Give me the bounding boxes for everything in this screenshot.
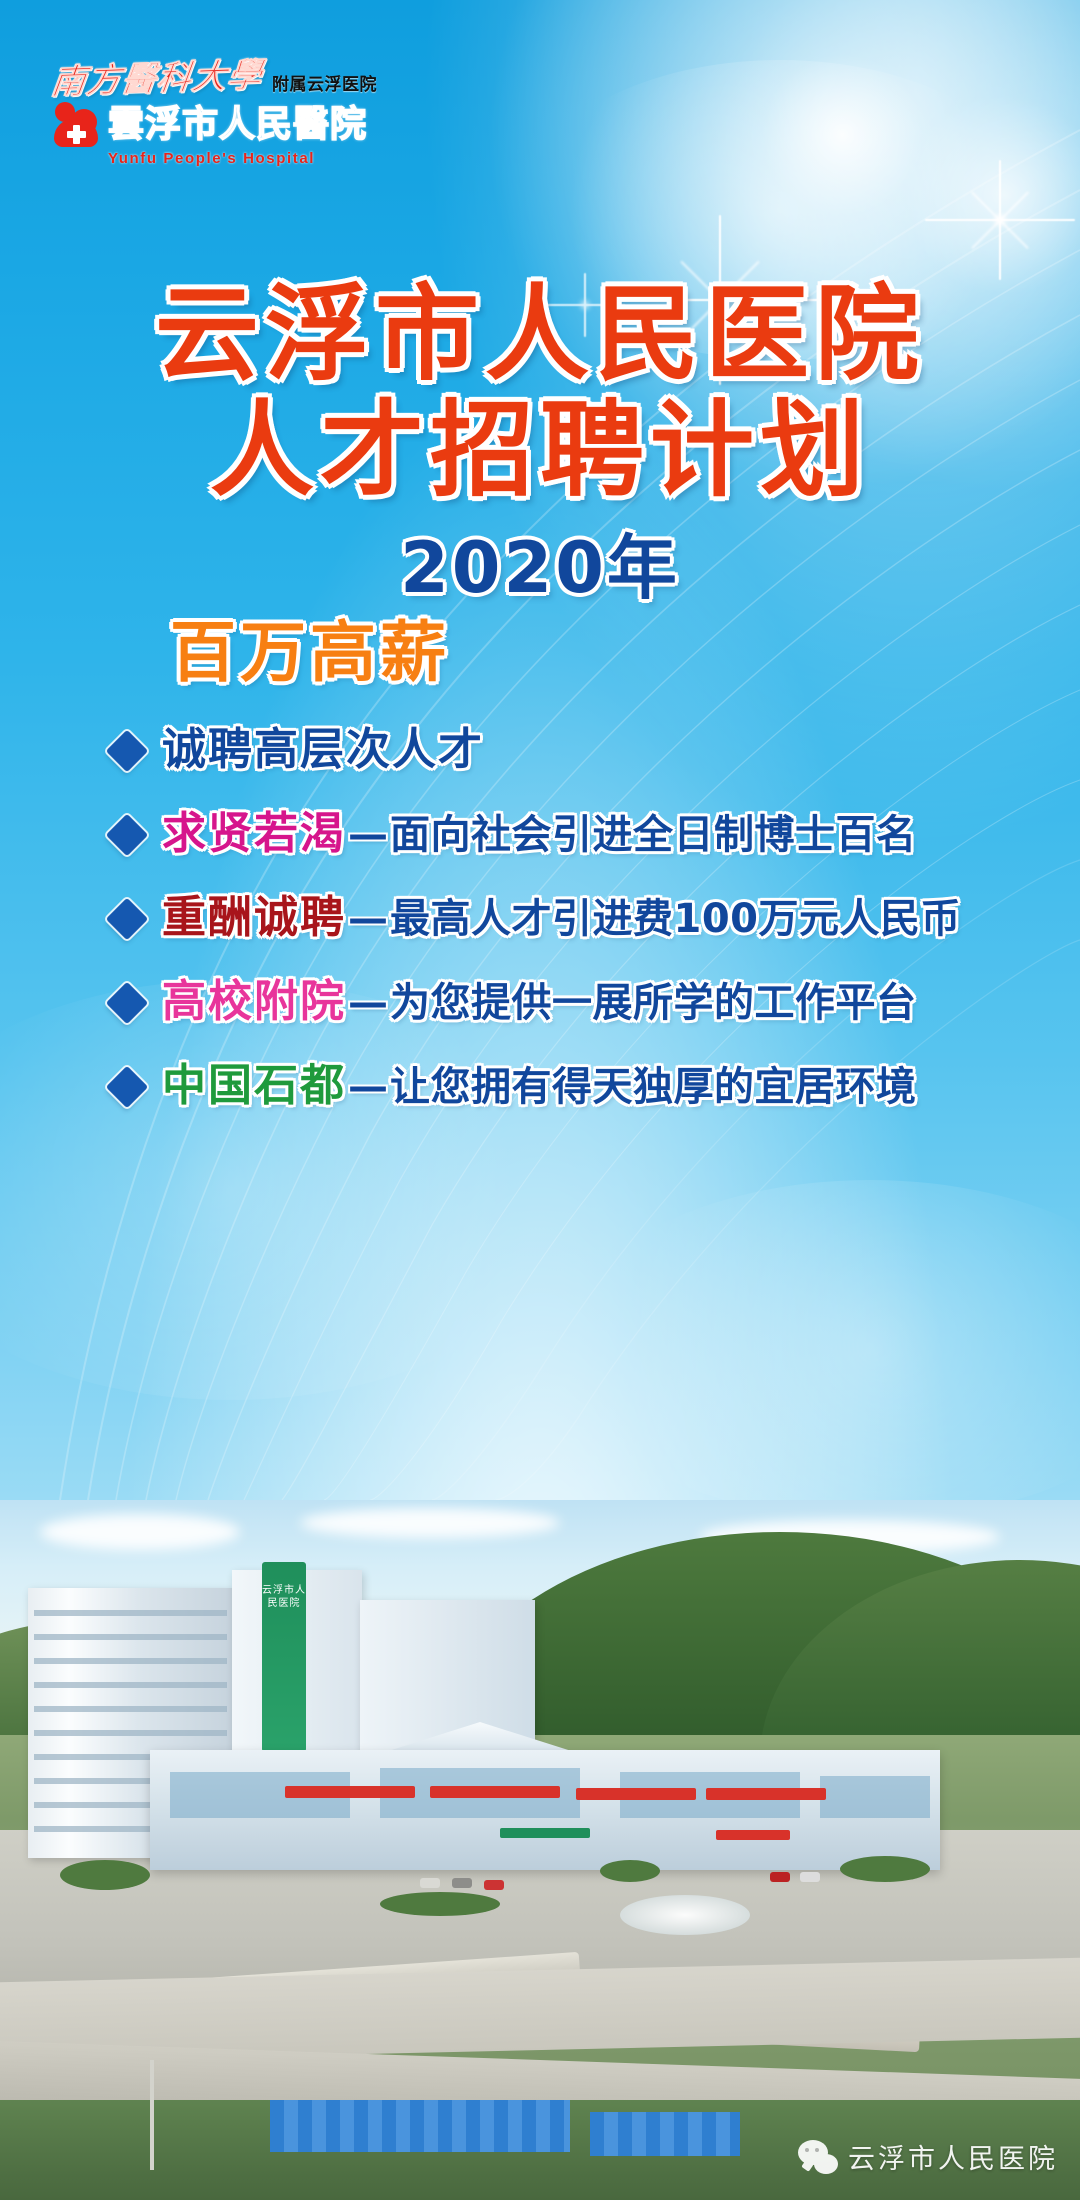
list-item: 重酬诚聘 — 最高人才引进费100万元人民币 — [112, 884, 992, 952]
list-item-dash: — — [348, 815, 388, 855]
photo-red-banner — [430, 1786, 560, 1798]
diamond-bullet-icon — [106, 814, 148, 856]
list-item: 诚聘高层次人才 — [112, 716, 992, 784]
building-vertical-sign: 云浮市人民医院 — [262, 1562, 306, 1752]
photo-bush — [840, 1856, 930, 1882]
photo-cloud — [40, 1514, 240, 1550]
list-item-dash: — — [348, 899, 388, 939]
recruitment-poster: 南方醫科大學 附属云浮医院 雲浮市人民醫院 Yunfu People's Hos… — [0, 0, 1080, 2200]
photo-construction-fence — [270, 2100, 570, 2152]
photo-green-banner — [500, 1828, 590, 1838]
hospital-name-cn: 雲浮市人民醫院 — [108, 106, 367, 142]
logo-top-row: 南方醫科大學 附属云浮医院 — [52, 62, 472, 96]
diamond-bullet-icon — [106, 730, 148, 772]
list-item: 求贤若渴 — 面向社会引进全日制博士百名 — [112, 800, 992, 868]
list-item-detail: 为您提供一展所学的工作平台 — [390, 983, 917, 1023]
photo-car — [770, 1872, 790, 1882]
photo-red-banner — [716, 1830, 790, 1840]
benefits-list: 诚聘高层次人才 求贤若渴 — 面向社会引进全日制博士百名 重酬诚聘 — 最高人才… — [112, 716, 992, 1136]
hospital-logo-block: 南方醫科大學 附属云浮医院 雲浮市人民醫院 Yunfu People's Hos… — [52, 62, 472, 167]
hospital-campus-photo: 云浮市人民医院 — [0, 1500, 1080, 2200]
diamond-bullet-icon — [106, 898, 148, 940]
list-item-lead: 诚聘高层次人才 — [162, 728, 484, 772]
wechat-account-name: 云浮市人民医院 — [848, 2137, 1058, 2176]
photo-bush — [380, 1892, 500, 1916]
photo-red-banner — [285, 1786, 415, 1798]
title-year: 2020年 — [0, 533, 1080, 603]
list-item-dash: — — [348, 983, 388, 1023]
photo-pole — [150, 2060, 154, 2170]
photo-car — [420, 1878, 440, 1888]
title-line-2: 人才招聘计划 — [0, 392, 1080, 508]
photo-car — [484, 1880, 504, 1890]
list-item-detail: 让您拥有得天独厚的宜居环境 — [390, 1067, 917, 1107]
list-item-detail: 最高人才引进费100万元人民币 — [390, 899, 961, 939]
salary-highlight: 百万高薪 — [170, 620, 450, 686]
wechat-attribution: 云浮市人民医院 — [798, 2137, 1058, 2176]
cloud-shape — [560, 1180, 1080, 1520]
diamond-bullet-icon — [106, 982, 148, 1024]
university-name: 南方醫科大學 — [49, 58, 264, 99]
diamond-bullet-icon — [106, 1066, 148, 1108]
building-sign-text: 云浮市人民医院 — [262, 1562, 306, 1610]
hospital-name-en: Yunfu People's Hospital — [108, 150, 472, 167]
list-item: 中国石都 — 让您拥有得天独厚的宜居环境 — [112, 1052, 992, 1120]
photo-glass-facade — [820, 1776, 930, 1818]
list-item-dash: — — [348, 1067, 388, 1107]
hospital-cross-logo-icon — [52, 101, 100, 147]
photo-car — [452, 1878, 472, 1888]
photo-bush — [600, 1860, 660, 1882]
photo-construction-fence — [590, 2112, 740, 2156]
list-item: 高校附院 — 为您提供一展所学的工作平台 — [112, 968, 992, 1036]
photo-red-banner — [576, 1788, 696, 1800]
photo-bush — [60, 1860, 150, 1890]
affiliation-label: 附属云浮医院 — [272, 76, 377, 96]
photo-car — [800, 1872, 820, 1882]
logo-bottom-row: 雲浮市人民醫院 — [52, 101, 472, 147]
list-item-lead: 高校附院 — [162, 980, 346, 1024]
photo-red-banner — [706, 1788, 826, 1800]
title-line-1: 云浮市人民医院 — [0, 276, 1080, 392]
photo-cloud — [300, 1508, 560, 1538]
list-item-lead: 中国石都 — [162, 1064, 346, 1108]
poster-title-block: 云浮市人民医院 人才招聘计划 2020年 — [0, 276, 1080, 603]
photo-fountain — [620, 1895, 750, 1935]
wechat-icon — [798, 2140, 838, 2174]
list-item-lead: 求贤若渴 — [162, 812, 346, 856]
list-item-lead: 重酬诚聘 — [162, 896, 346, 940]
list-item-detail: 面向社会引进全日制博士百名 — [390, 815, 917, 855]
